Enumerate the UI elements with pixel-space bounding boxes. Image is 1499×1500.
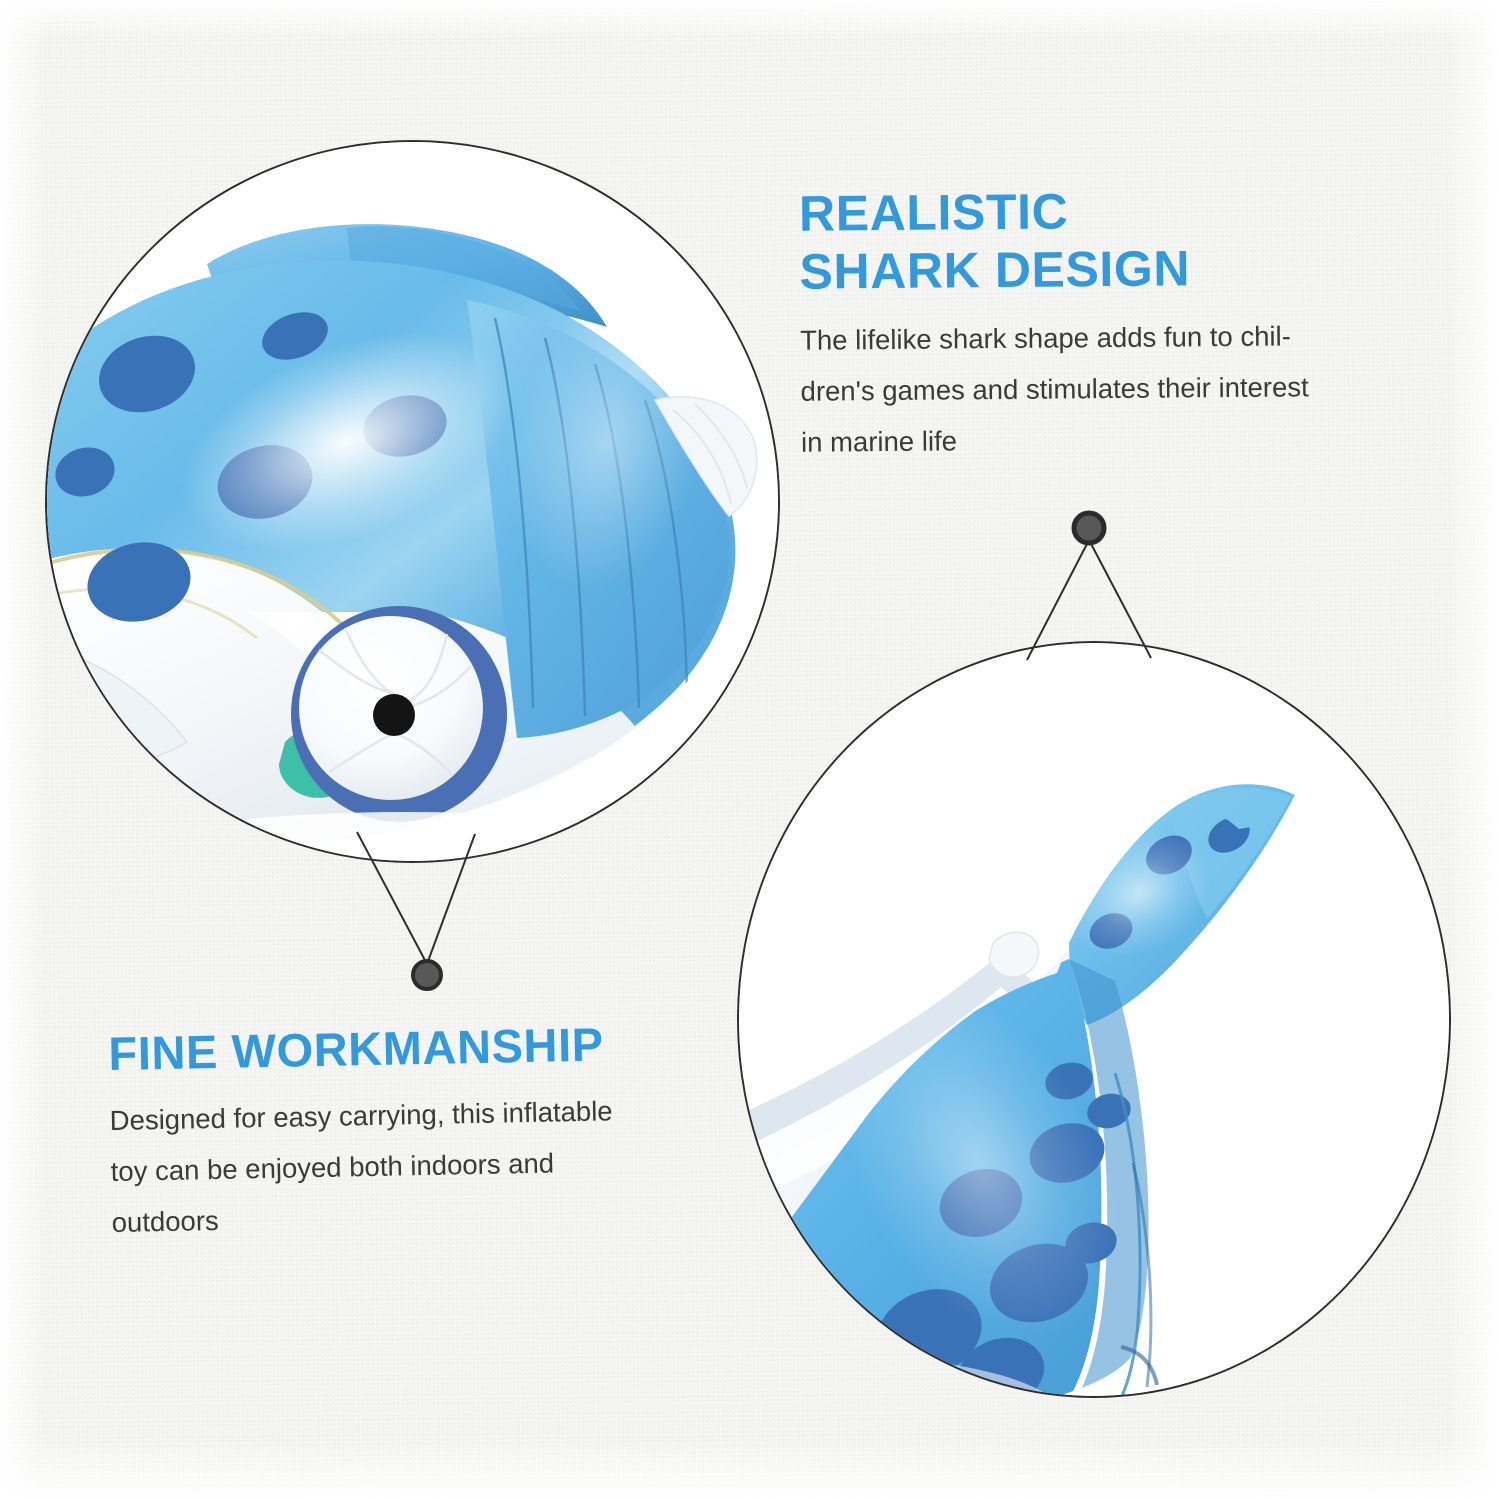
- feature-block-fine-workmanship: FINE WORKMANSHIP Designed for easy carry…: [108, 1014, 737, 1248]
- eye-pupil: [373, 694, 415, 736]
- feature-block-realistic-shark-design: REALISTIC SHARK DESIGN The lifelike shar…: [799, 179, 1426, 467]
- feature-headline-workmanship: FINE WORKMANSHIP: [108, 1014, 734, 1081]
- infographic-canvas: REALISTIC SHARK DESIGN The lifelike shar…: [0, 0, 1499, 1500]
- callout-shark-tail: [737, 641, 1451, 1398]
- hanger-ornament-head: [327, 812, 527, 1012]
- hanger-line-right: [1089, 540, 1151, 658]
- hanger-ornament-tail: [989, 506, 1209, 706]
- shark-head-photo: [47, 142, 778, 861]
- hanger-dot: [1074, 513, 1104, 543]
- hanger-line-left: [1027, 540, 1089, 660]
- shark-tail-photo: [739, 643, 1449, 1396]
- feature-body-realistic: The lifelike shark shape adds fun to chi…: [800, 309, 1426, 467]
- callout-ring-tail: [737, 641, 1451, 1398]
- hanger-line-left: [357, 832, 427, 964]
- hanger-dot: [413, 961, 441, 989]
- callout-shark-head: [45, 140, 780, 863]
- hanger-line-right: [427, 834, 475, 964]
- callout-ring-head: [45, 140, 780, 863]
- feature-body-workmanship: Designed for easy carrying, this inflata…: [109, 1083, 737, 1248]
- feature-headline-realistic: REALISTIC SHARK DESIGN: [799, 179, 1425, 300]
